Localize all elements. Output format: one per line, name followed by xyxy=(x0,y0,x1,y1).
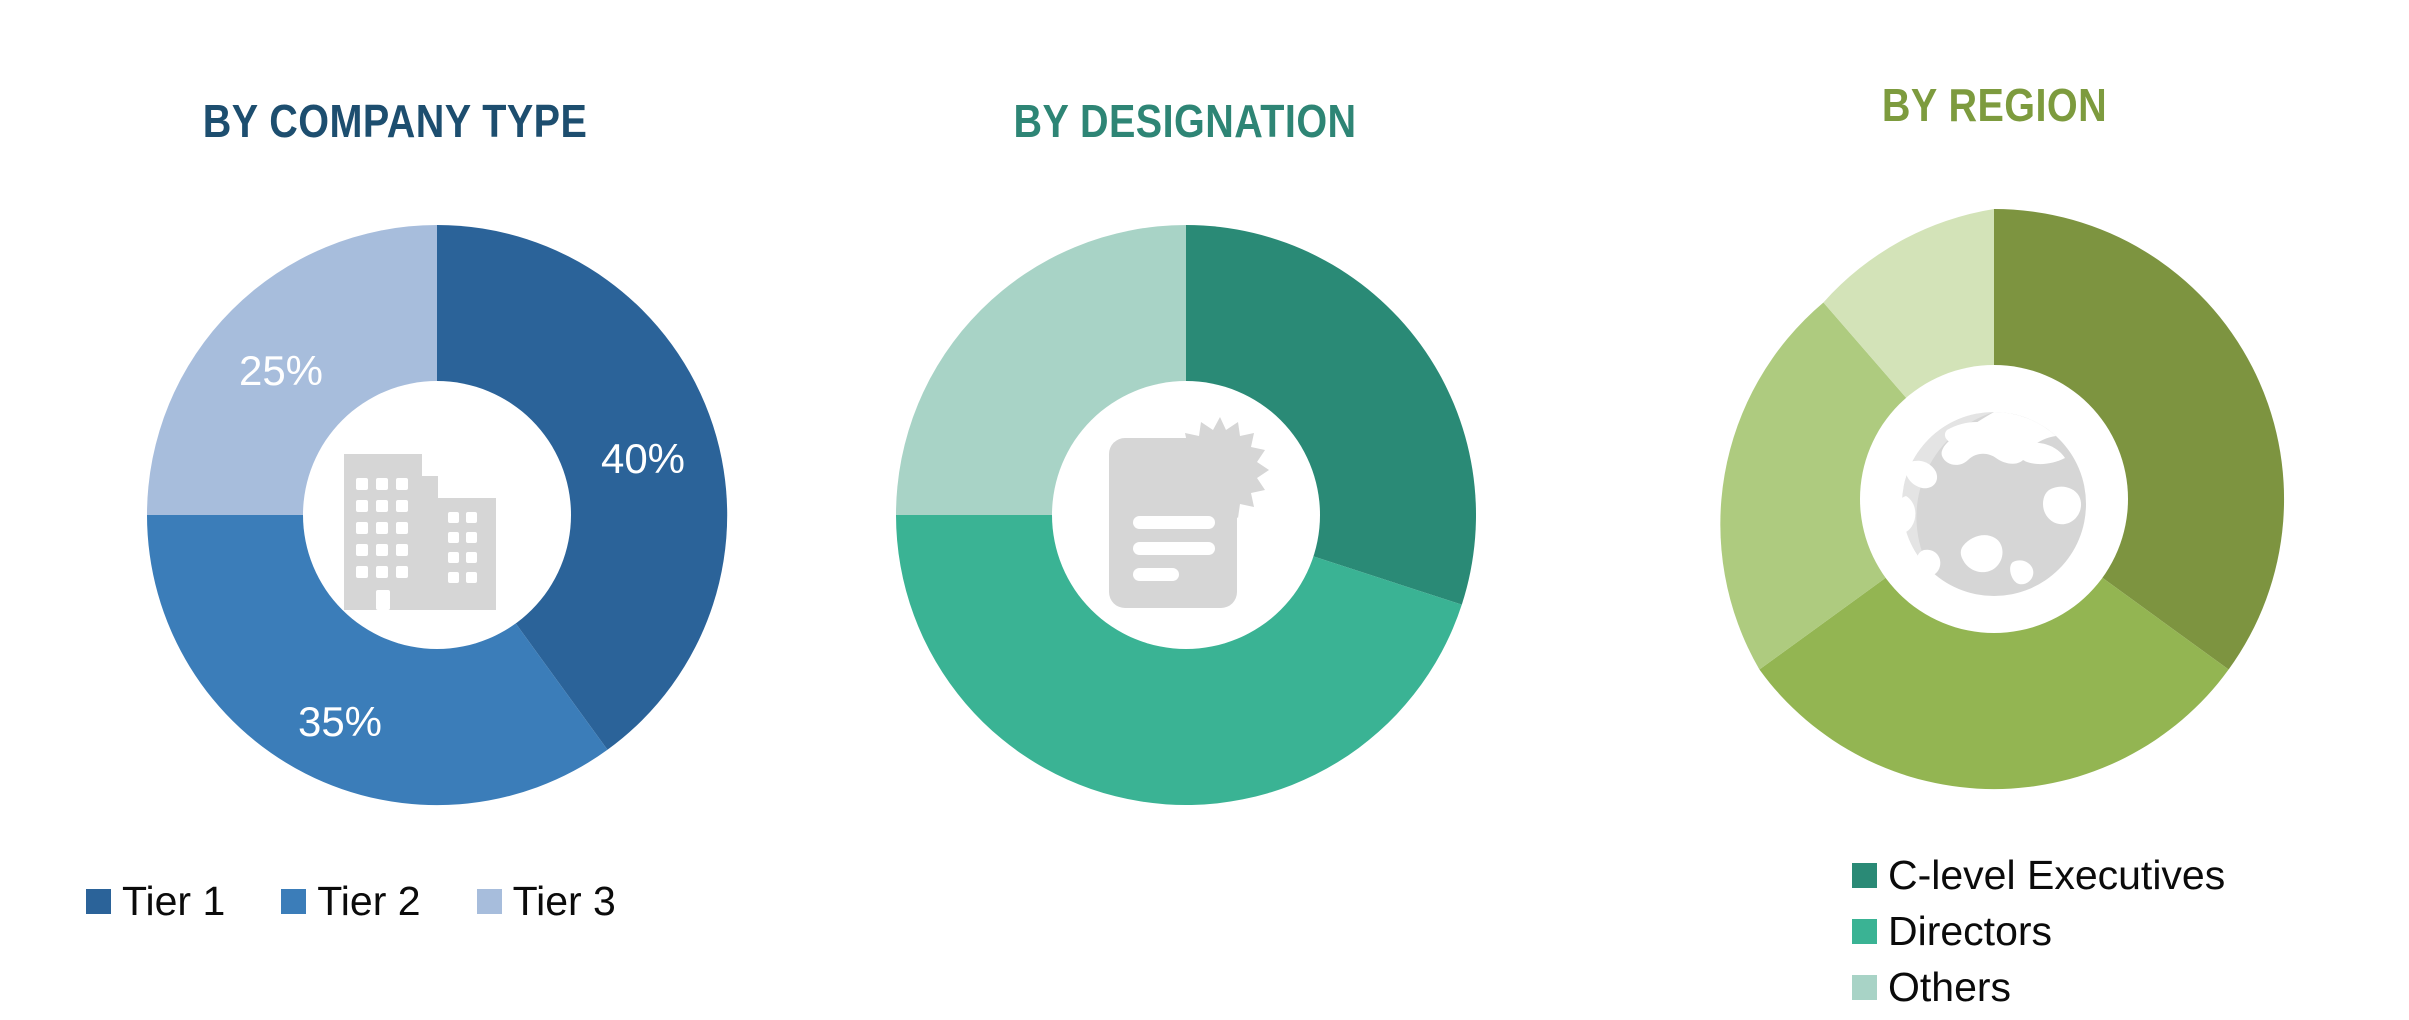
donut-svg-designation xyxy=(887,216,1485,814)
legend-item-tier-1[interactable]: Tier 1 xyxy=(86,878,225,925)
page-title-by-region: BY REGION xyxy=(1638,78,2351,132)
donut-chart-by-company-type xyxy=(138,216,736,814)
legend-item-label: Tier 2 xyxy=(317,878,420,925)
panel-by-region: BY REGION xyxy=(1580,0,2409,1014)
panel-by-company-type: BY COMPANY TYPE xyxy=(0,0,790,1014)
legend-swatch-icon xyxy=(281,889,306,914)
legend-item-label: Tier 1 xyxy=(122,878,225,925)
donut-charts-board: BY COMPANY TYPE xyxy=(0,0,2409,1014)
page-title-by-company-type: BY COMPANY TYPE xyxy=(55,94,734,148)
legend-item-tier-3[interactable]: Tier 3 xyxy=(477,878,616,925)
donut-chart-by-designation xyxy=(887,216,1485,814)
legend-item-tier-2[interactable]: Tier 2 xyxy=(281,878,420,925)
panel-by-designation: BY DESIGNATION xyxy=(790,0,1580,1014)
donut-svg-region xyxy=(1695,200,2293,798)
legend-by-company-type: Tier 1 Tier 2 Tier 3 xyxy=(86,878,746,925)
page-title-by-designation: BY DESIGNATION xyxy=(845,94,1524,148)
donut-svg-company-type xyxy=(138,216,736,814)
legend-swatch-icon xyxy=(477,889,502,914)
donut-chart-by-region xyxy=(1695,200,2293,798)
legend-item-label: Tier 3 xyxy=(513,878,616,925)
legend-swatch-icon xyxy=(86,889,111,914)
